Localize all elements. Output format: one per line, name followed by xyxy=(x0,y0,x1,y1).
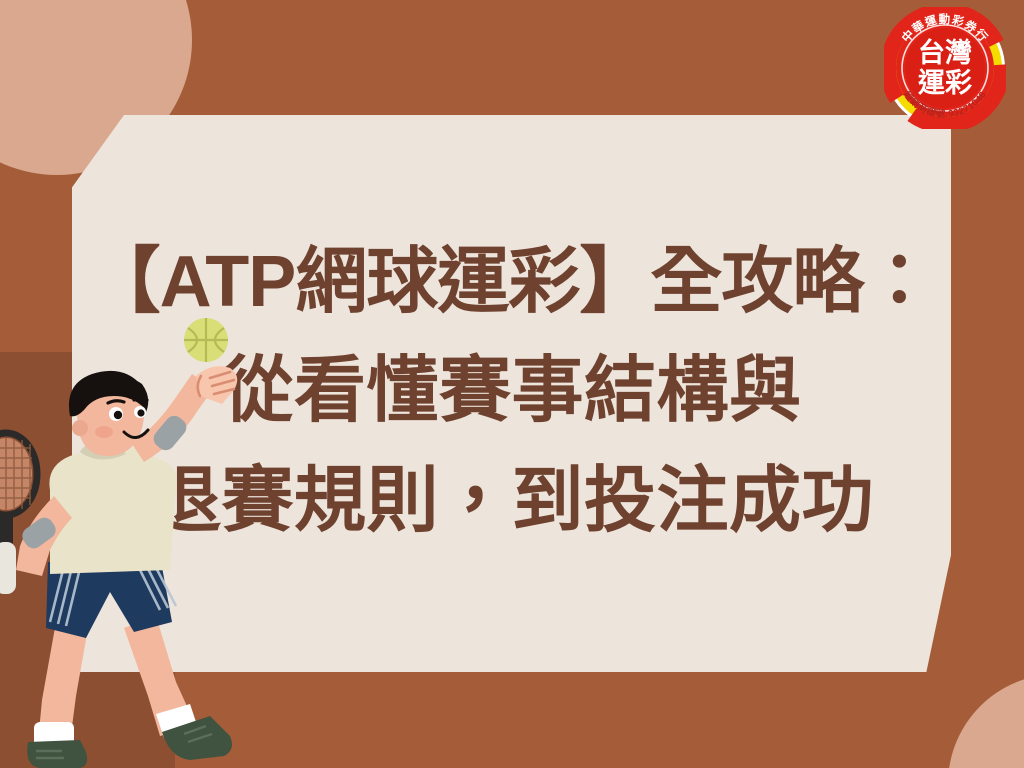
poster-canvas: 【ATP網球運彩】全攻略： 從看懂賽事結構與 退賽規則，到投注成功 中華運動彩券… xyxy=(0,0,1024,768)
tennis-ball-icon xyxy=(184,318,228,362)
decorative-circle-bottom-right xyxy=(948,674,1024,768)
seal-center-line-1: 台灣 xyxy=(918,37,972,68)
seal-center-line-2: 運彩 xyxy=(917,67,972,98)
taiwan-sports-lottery-seal-logo: 中華運動彩券行 經銷商證號:93271046 台灣 運彩 xyxy=(884,7,1006,129)
tennis-player-illustration xyxy=(0,370,244,768)
